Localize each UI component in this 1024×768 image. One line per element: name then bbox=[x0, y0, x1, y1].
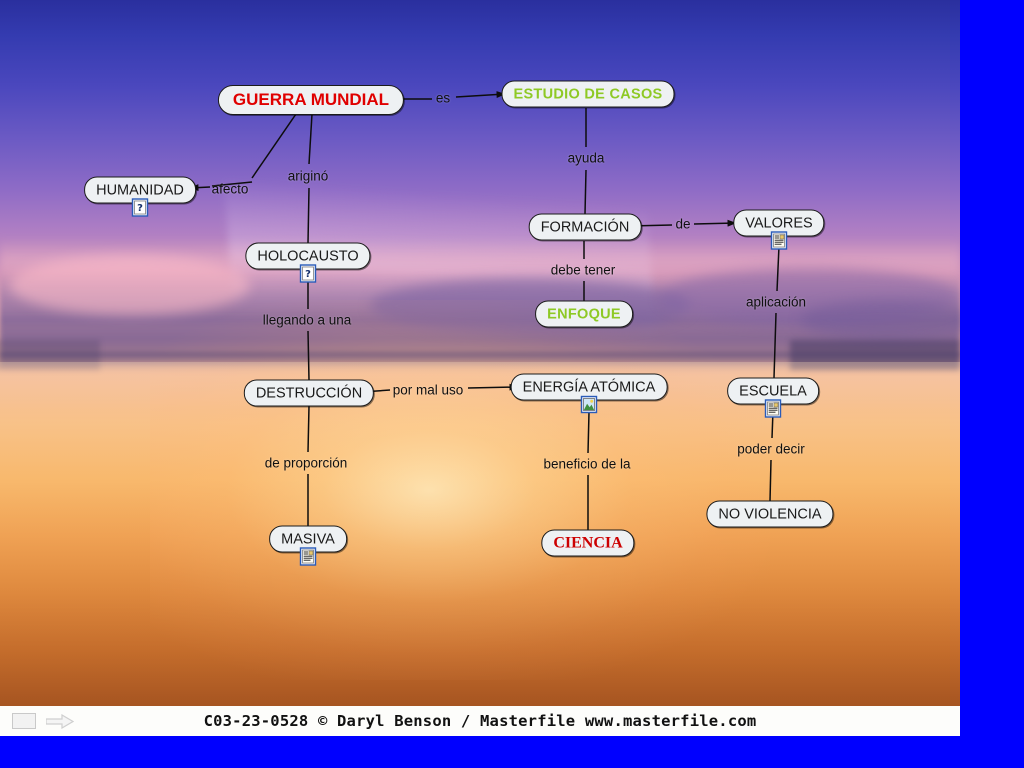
photo-caption-bar: C03-23-0528 © Daryl Benson / Masterfile … bbox=[0, 706, 960, 736]
right-blue-frame bbox=[960, 0, 1024, 768]
node-guerra[interactable]: GUERRA MUNDIAL bbox=[218, 85, 404, 115]
node-label: ENFOQUE bbox=[547, 306, 621, 322]
node-ciencia[interactable]: CIENCIA bbox=[541, 530, 634, 557]
link-label-l9[interactable]: por mal uso bbox=[393, 383, 464, 398]
link-label-l7[interactable]: aplicación bbox=[746, 295, 806, 310]
node-destruccion[interactable]: DESTRUCCIÓN bbox=[244, 380, 374, 407]
node-label: ENERGÍA ATÓMICA bbox=[523, 379, 656, 395]
link-label-l6[interactable]: debe tener bbox=[551, 263, 616, 278]
node-label: FORMACIÓN bbox=[541, 219, 630, 235]
bottom-blue-frame bbox=[0, 736, 1024, 768]
link-label-l8[interactable]: llegando a una bbox=[263, 313, 352, 328]
photo-credit-text: C03-23-0528 © Daryl Benson / Masterfile … bbox=[0, 712, 960, 730]
node-label: ESCUELA bbox=[739, 383, 807, 399]
question-doc-icon[interactable]: ? bbox=[132, 198, 149, 217]
link-label-l1[interactable]: es bbox=[436, 91, 450, 106]
node-label: MASIVA bbox=[281, 531, 335, 547]
node-formacion[interactable]: FORMACIÓN bbox=[529, 214, 642, 241]
link-label-l12[interactable]: poder decir bbox=[737, 442, 805, 457]
svg-text:?: ? bbox=[137, 203, 143, 214]
question-doc-icon[interactable]: ? bbox=[300, 264, 317, 283]
concept-map: GUERRA MUNDIALESTUDIO DE CASOSHUMANIDAD?… bbox=[0, 0, 960, 706]
screenshot-root: GUERRA MUNDIALESTUDIO DE CASOSHUMANIDAD?… bbox=[0, 0, 1024, 768]
text-image-doc-icon[interactable] bbox=[300, 547, 317, 566]
node-label: CIENCIA bbox=[553, 534, 622, 552]
link-label-l3[interactable]: ariginó bbox=[288, 169, 329, 184]
node-label: VALORES bbox=[745, 215, 812, 231]
node-label: HUMANIDAD bbox=[96, 182, 184, 198]
node-noviolencia[interactable]: NO VIOLENCIA bbox=[706, 501, 833, 528]
picture-icon[interactable] bbox=[581, 395, 598, 414]
link-label-l11[interactable]: beneficio de la bbox=[543, 457, 630, 472]
link-label-l10[interactable]: de proporción bbox=[265, 456, 348, 471]
node-enfoque[interactable]: ENFOQUE bbox=[535, 301, 633, 328]
link-label-l2[interactable]: afecto bbox=[212, 182, 249, 197]
text-image-doc-icon[interactable] bbox=[771, 231, 788, 250]
node-label: ESTUDIO DE CASOS bbox=[513, 86, 662, 102]
node-estudio[interactable]: ESTUDIO DE CASOS bbox=[501, 81, 674, 108]
link-label-l4[interactable]: ayuda bbox=[568, 151, 605, 166]
background-photograph: GUERRA MUNDIALESTUDIO DE CASOSHUMANIDAD?… bbox=[0, 0, 960, 736]
node-label: DESTRUCCIÓN bbox=[256, 385, 362, 401]
link-label-l5[interactable]: de bbox=[675, 217, 690, 232]
svg-text:?: ? bbox=[305, 269, 311, 280]
concept-map-edges bbox=[0, 0, 960, 706]
node-label: HOLOCAUSTO bbox=[257, 248, 358, 264]
node-label: NO VIOLENCIA bbox=[718, 506, 821, 522]
text-image-doc-icon[interactable] bbox=[765, 399, 782, 418]
node-label: GUERRA MUNDIAL bbox=[233, 90, 389, 110]
